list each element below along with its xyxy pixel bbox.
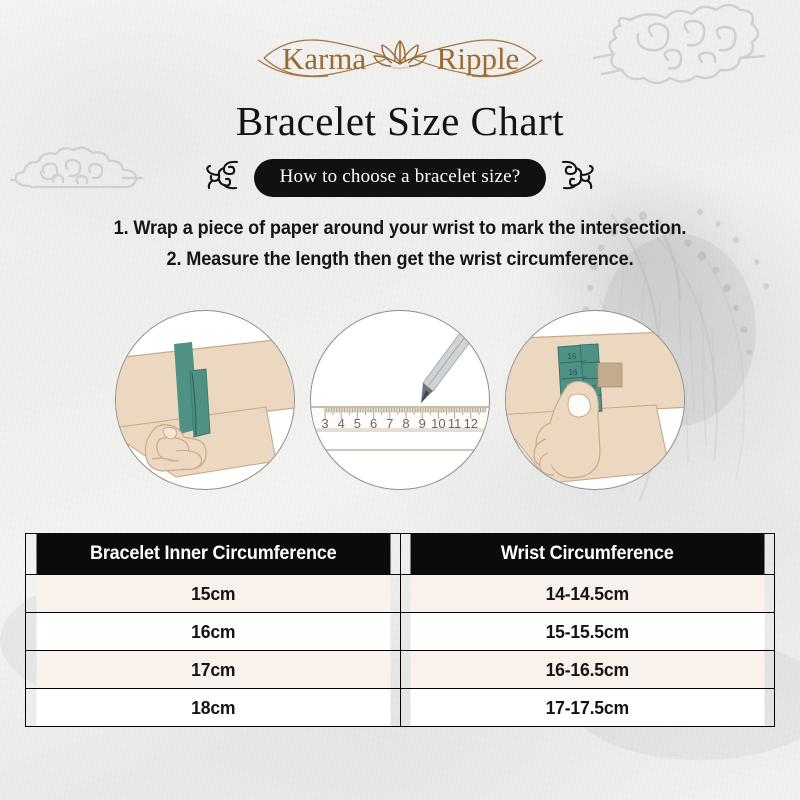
- ruler-tick-label: 12: [464, 416, 478, 431]
- ruler-tick-label: 6: [370, 416, 377, 431]
- column-header-wrist-circumference: Wrist Circumference: [409, 534, 765, 575]
- brand-logo: Karma Ripple: [0, 28, 800, 91]
- cell-wrist-circumference: 17-17.5cm: [409, 689, 765, 727]
- illustration-row: 3456789101112: [0, 310, 800, 490]
- subtitle-pill: How to choose a bracelet size?: [254, 159, 547, 197]
- ruler-tick-label: 10: [431, 416, 445, 431]
- subtitle-row: How to choose a bracelet size?: [0, 158, 800, 197]
- flourish-ornament-icon: [204, 158, 242, 197]
- cell-bracelet-inner-circumference: 18cm: [35, 689, 391, 727]
- size-chart-table: Bracelet Inner Circumference Wrist Circu…: [25, 533, 775, 727]
- ruler-tick-label: 9: [419, 416, 426, 431]
- column-header-bracelet-inner-circumference: Bracelet Inner Circumference: [35, 534, 391, 575]
- table-row: 18cm17-17.5cm: [26, 689, 775, 727]
- ruler-tick-label: 7: [386, 416, 393, 431]
- page-title: Bracelet Size Chart: [0, 97, 800, 145]
- instructions-block: 1. Wrap a piece of paper around your wri…: [0, 213, 800, 275]
- lotus-icon: [374, 41, 426, 69]
- cell-bracelet-inner-circumference: 17cm: [35, 651, 391, 689]
- ruler-tick-label: 8: [402, 416, 409, 431]
- instruction-line-1: 1. Wrap a piece of paper around your wri…: [28, 213, 772, 244]
- illustration-wrist-with-measuring-tape: 1516172: [505, 310, 685, 490]
- ruler-tick-label: 4: [338, 416, 345, 431]
- cell-wrist-circumference: 16-16.5cm: [409, 651, 765, 689]
- pencil-icon: [421, 329, 474, 403]
- instruction-line-2: 2. Measure the length then get the wrist…: [28, 244, 772, 275]
- table-row: 16cm15-15.5cm: [26, 613, 775, 651]
- ruler-tick-label: 3: [321, 416, 328, 431]
- ruler-tick-label: 11: [448, 416, 462, 431]
- cell-bracelet-inner-circumference: 16cm: [35, 613, 391, 651]
- tape-mark-label: 16: [569, 368, 578, 377]
- cell-wrist-circumference: 15-15.5cm: [409, 613, 765, 651]
- table-header-row: Bracelet Inner Circumference Wrist Circu…: [26, 534, 775, 575]
- cell-wrist-circumference: 14-14.5cm: [409, 575, 765, 613]
- brand-name-right: Ripple: [437, 41, 520, 76]
- illustration-wrist-with-paper-strip: [115, 310, 295, 490]
- brand-name-left: Karma: [282, 41, 367, 76]
- flourish-ornament-icon: [558, 158, 596, 197]
- illustration-ruler-with-pencil: 3456789101112: [310, 310, 490, 490]
- table-row: 15cm14-14.5cm: [26, 575, 775, 613]
- cell-bracelet-inner-circumference: 15cm: [35, 575, 391, 613]
- tape-mark-label: 15: [568, 352, 577, 361]
- ruler-tick-label: 5: [354, 416, 361, 431]
- table-row: 17cm16-16.5cm: [26, 651, 775, 689]
